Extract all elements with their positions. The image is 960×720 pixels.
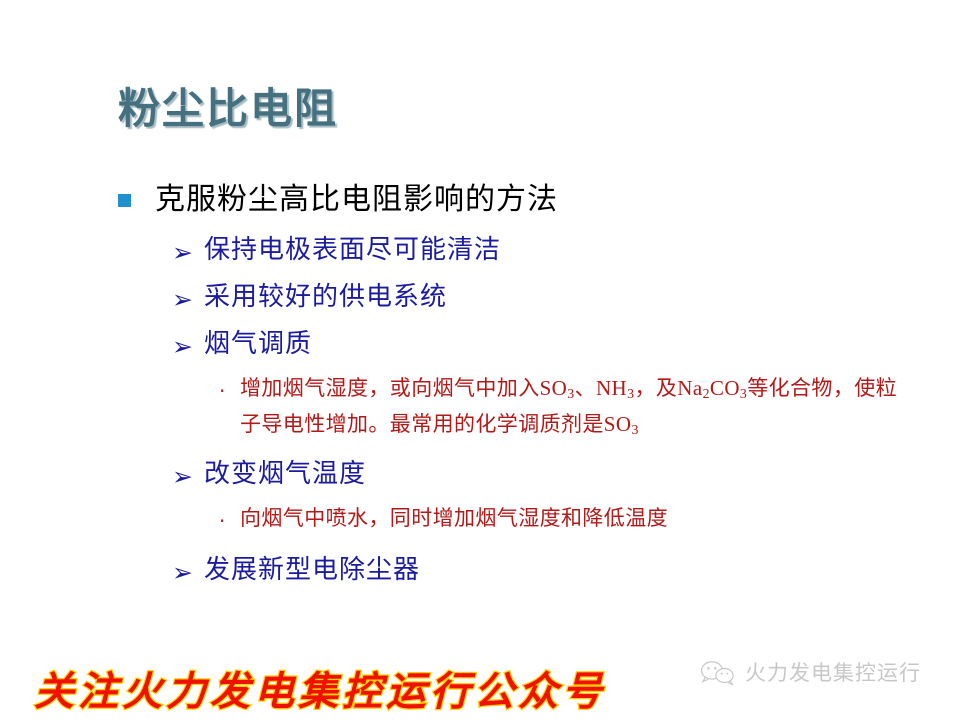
outline-item-label: 保持电极表面尽可能清洁 [204,235,501,264]
outline-item-water-spray: · 向烟气中喷水，同时增加烟气湿度和降低温度 [0,503,960,537]
outline-item-label: 发展新型电除尘器 [204,555,420,584]
subscript: 2 [703,386,710,401]
wechat-account-watermark: 火力发电集控运行 [700,659,921,687]
text-part: ，及Na [634,376,702,400]
outline-item-keep-electrode-clean: ➢ 保持电极表面尽可能清洁 [0,232,960,272]
dot-bullet-icon: · [219,375,225,407]
subscript: 3 [567,386,574,401]
slide-canvas: 粉尘比电阻 克服粉尘高比电阻影响的方法 ➢ 保持电极表面尽可能清洁 ➢ 采用较好… [0,0,960,720]
arrow-bullet-icon: ➢ [172,556,193,590]
promo-banner: 关注火力发电集控运行公众号 [34,668,606,716]
spacer [0,542,960,552]
dot-bullet-icon: · [219,505,225,537]
text-part: 增加烟气湿度，或向烟气中加入SO [240,376,567,400]
subscript: 3 [631,422,638,437]
content-outline: 克服粉尘高比电阻影响的方法 ➢ 保持电极表面尽可能清洁 ➢ 采用较好的供电系统 … [0,180,960,599]
arrow-bullet-icon: ➢ [172,330,193,364]
outline-item-chemical-agents: · 增加烟气湿度，或向烟气中加入SO3、NH3，及Na2CO3等化合物，使粒子导… [0,373,960,445]
outline-item-label: 改变烟气温度 [204,459,366,488]
outline-item-change-flue-gas-temperature: ➢ 改变烟气温度 [0,456,960,496]
text-part: CO [710,376,740,400]
text-part: 、NH [575,376,628,400]
outline-item-level1: 克服粉尘高比电阻影响的方法 [0,180,960,224]
page-title: 粉尘比电阻 [118,82,338,138]
outline-item-better-power-supply: ➢ 采用较好的供电系统 [0,279,960,319]
outline-item-level1-label: 克服粉尘高比电阻影响的方法 [155,183,558,216]
arrow-bullet-icon: ➢ [172,236,193,270]
arrow-bullet-icon: ➢ [172,283,193,317]
wechat-logo-icon [700,659,736,687]
wechat-account-name: 火力发电集控运行 [745,660,921,686]
outline-item-label: 增加烟气湿度，或向烟气中加入SO3、NH3，及Na2CO3等化合物，使粒子导电性… [240,373,912,445]
outline-item-new-esp: ➢ 发展新型电除尘器 [0,552,960,592]
outline-item-flue-gas-conditioning: ➢ 烟气调质 [0,326,960,366]
outline-item-label: 采用较好的供电系统 [204,282,447,311]
outline-item-label: 向烟气中喷水，同时增加烟气湿度和降低温度 [240,503,912,534]
square-bullet-icon [118,194,131,207]
arrow-bullet-icon: ➢ [172,460,193,494]
outline-item-label: 烟气调质 [204,329,312,358]
